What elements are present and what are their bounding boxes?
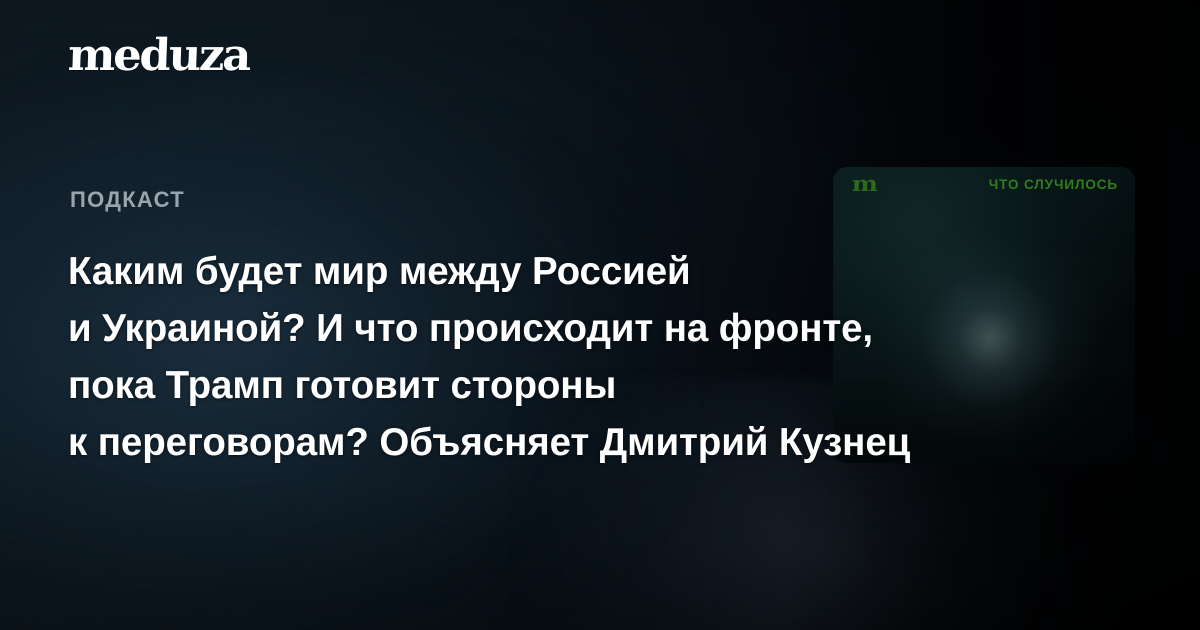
podcast-show-title: ЧТО СЛУЧИЛОСЬ — [989, 177, 1118, 192]
headline-line: и Украиной? И что происходит на фронте, — [68, 300, 1158, 357]
headline-line: пока Трамп готовит стороны — [68, 357, 1158, 414]
meduza-m-icon: m — [852, 173, 877, 194]
meduza-logo[interactable]: meduza — [67, 34, 250, 78]
page-title: Каким будет мир между Россией и Украиной… — [68, 243, 1158, 471]
category-label: ПОДКАСТ — [70, 187, 185, 213]
headline-line: к переговорам? Объясняет Дмитрий Кузнец — [68, 414, 1158, 471]
headline-line: Каким будет мир между Россией — [68, 243, 1158, 300]
podcast-share-card: m ЧТО СЛУЧИЛОСЬ meduza ПОДКАСТ Каким буд… — [0, 0, 1200, 630]
